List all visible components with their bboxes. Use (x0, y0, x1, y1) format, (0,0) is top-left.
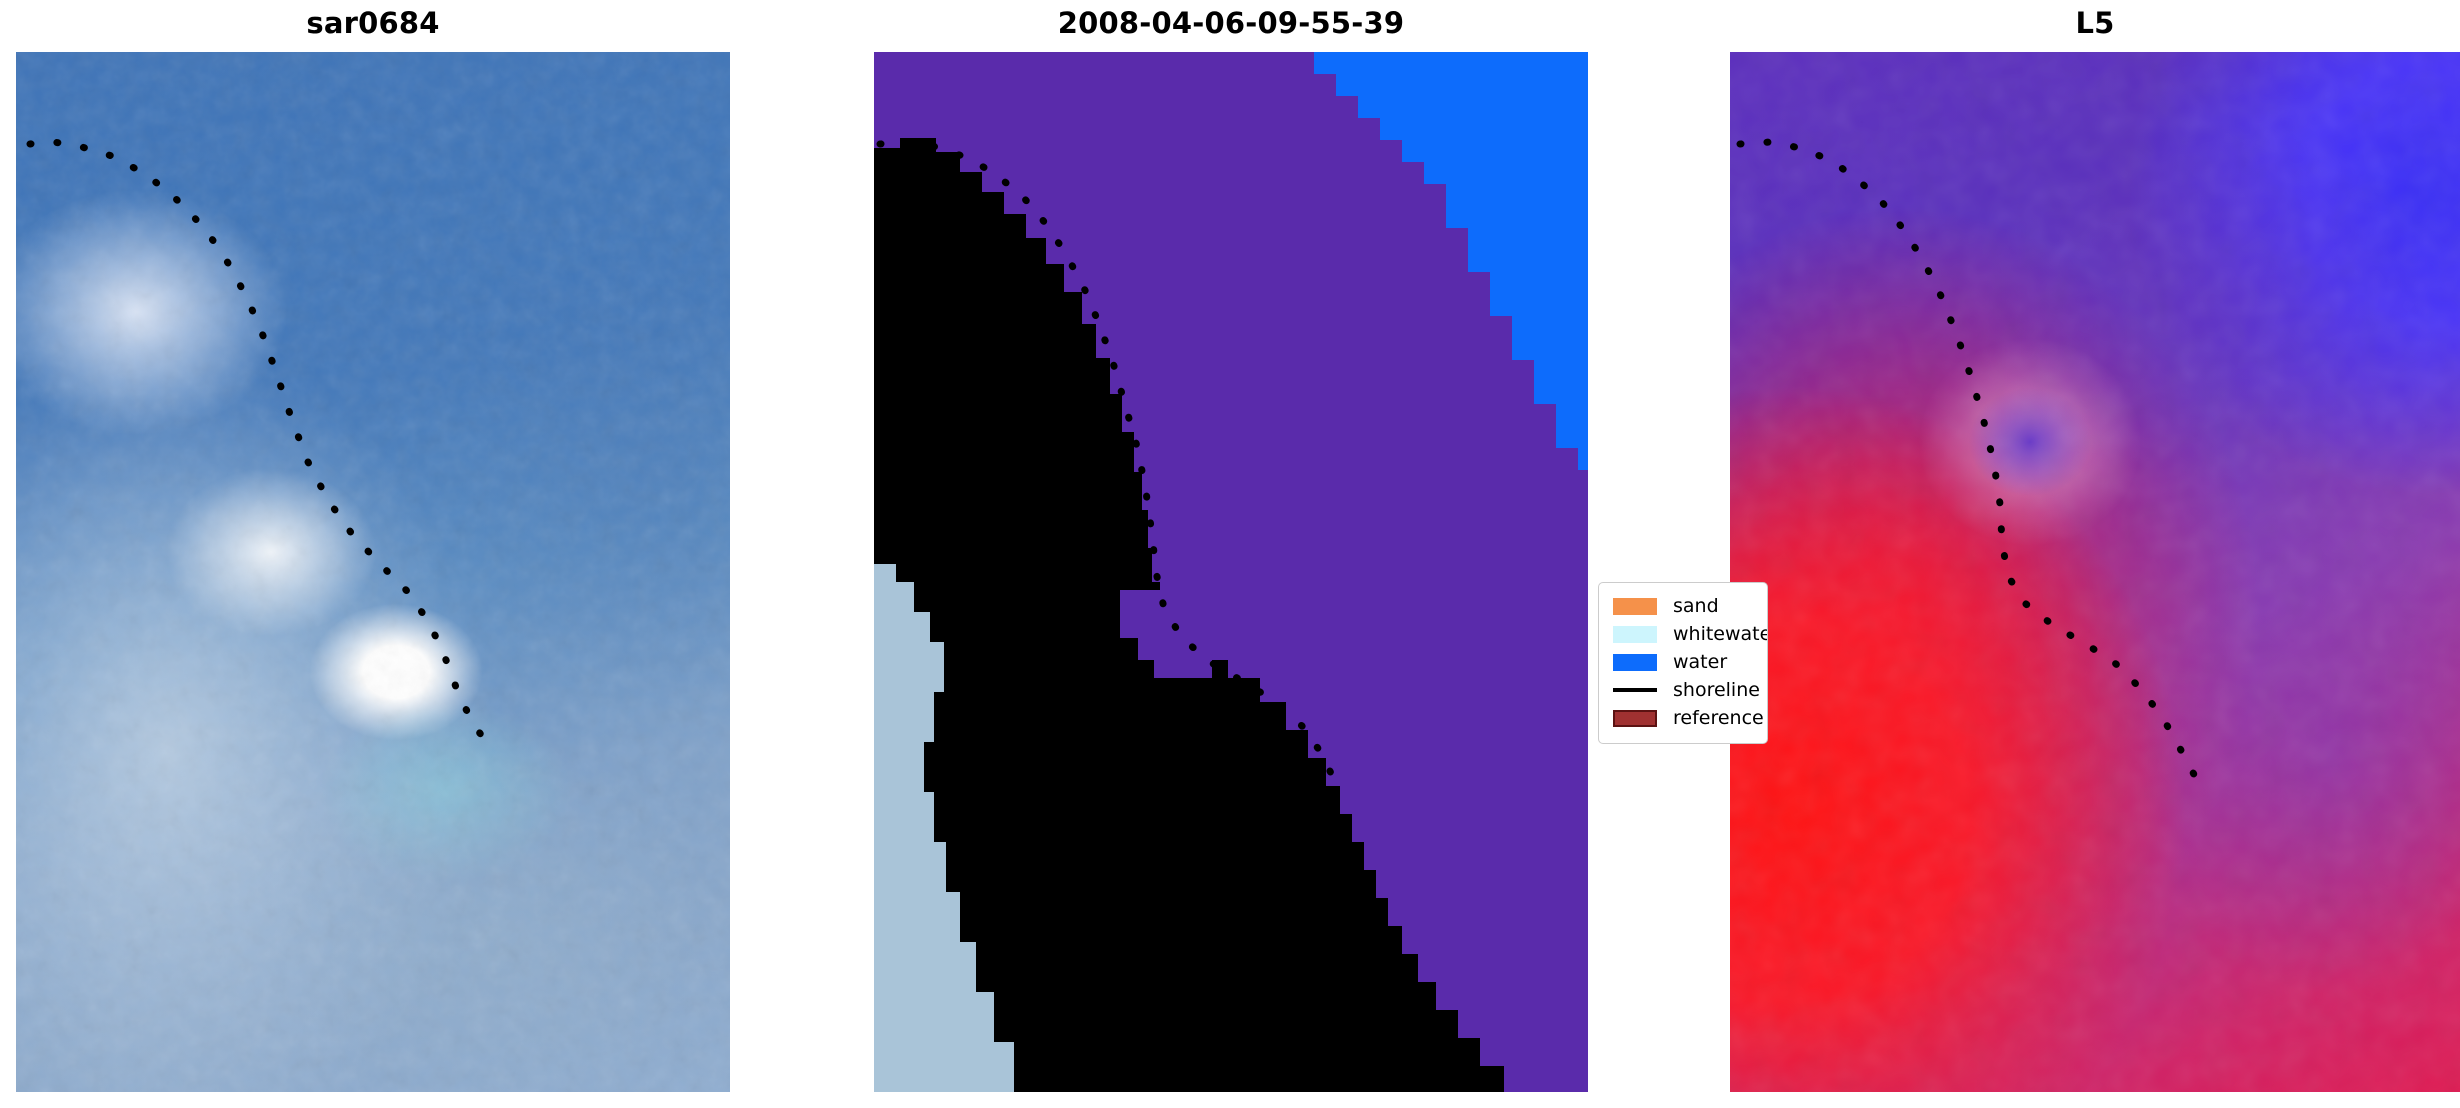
legend-item-whitewater: whitewater (1599, 620, 1767, 648)
legend-item-sand: sand (1599, 592, 1767, 620)
panel-title-sar: sar0684 (16, 6, 730, 40)
legend-label-shoreline: shoreline (1673, 681, 1760, 700)
panel-sar-image[interactable] (16, 52, 730, 1092)
legend-label-sand: sand (1673, 597, 1719, 616)
shoreline-overlay-l5 (1730, 52, 2460, 1092)
shoreline-swatch (1613, 688, 1657, 692)
legend-item-water: water (1599, 648, 1767, 676)
legend-item-shoreline: shoreline (1599, 676, 1767, 704)
shoreline-overlay-sar (16, 52, 730, 1092)
panel-title-classification: 2008-04-06-09-55-39 (874, 6, 1588, 40)
panel-title-l5: L5 (1730, 6, 2460, 40)
panel-classification-map[interactable] (874, 52, 1588, 1092)
shoreline-polyline (880, 142, 1336, 784)
shoreline-polyline (30, 142, 494, 752)
water-swatch (1613, 654, 1657, 671)
multi-panel-figure: sar0684 2008-04-06-09-55-39 L5 (0, 0, 2460, 1108)
legend-label-whitewater: whitewater (1673, 625, 1768, 644)
sand-swatch (1613, 598, 1657, 615)
panel-l5-composite[interactable] (1730, 52, 2460, 1092)
reference-swatch (1613, 710, 1657, 727)
shoreline-overlay-classification (874, 52, 1588, 1092)
shoreline-polyline (1740, 142, 2198, 782)
legend-box: sand whitewater water shoreline referenc… (1598, 582, 1768, 744)
whitewater-swatch (1613, 626, 1657, 643)
legend-label-water: water (1673, 653, 1727, 672)
legend-label-reference: reference (1673, 709, 1764, 728)
legend-item-reference: reference (1599, 704, 1767, 732)
